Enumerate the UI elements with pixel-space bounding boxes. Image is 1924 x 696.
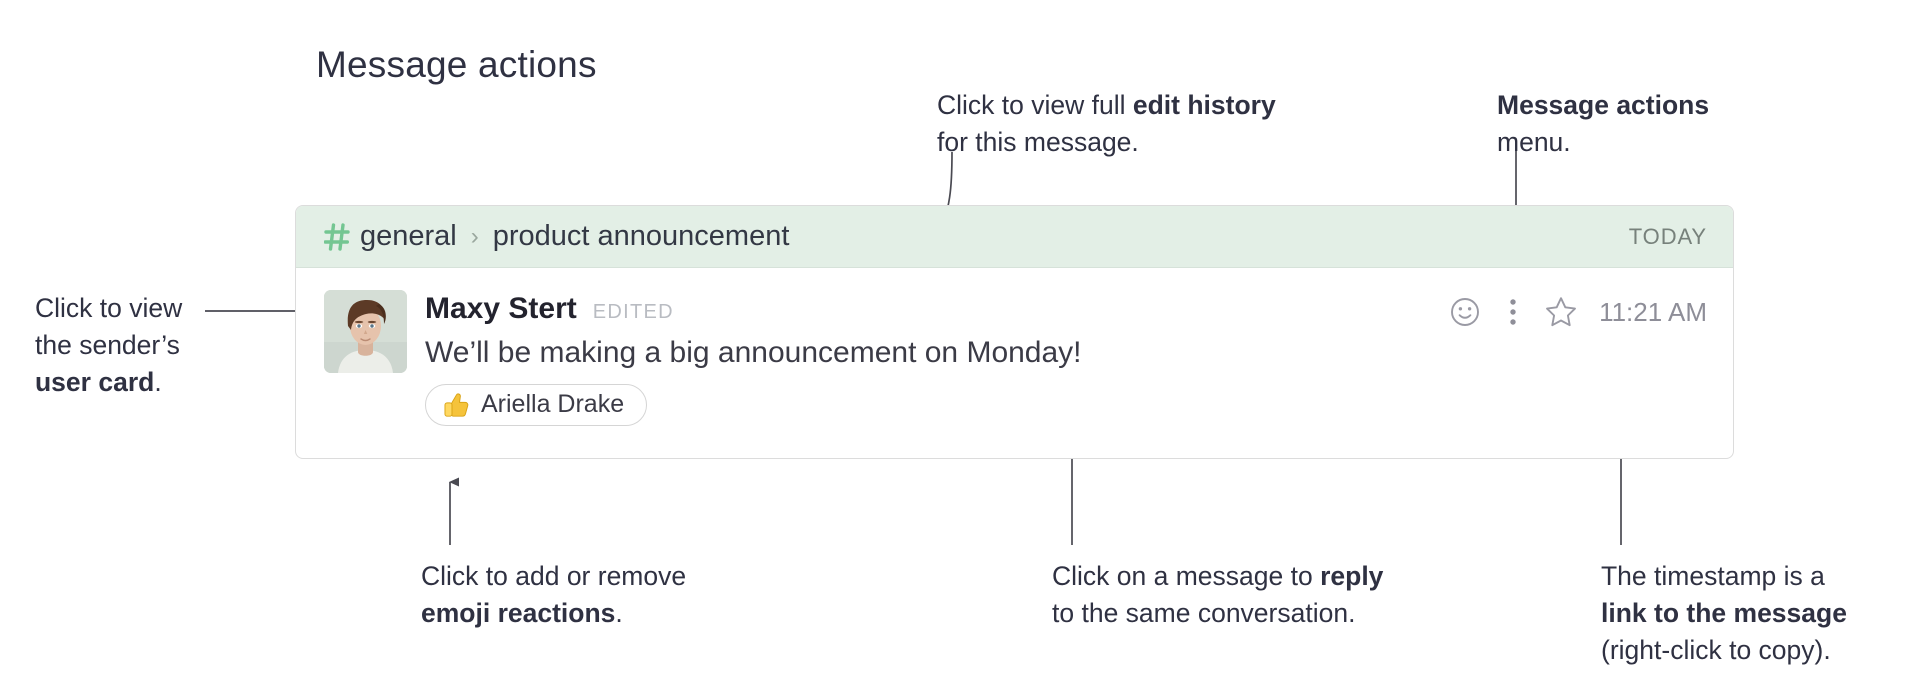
annotation-emoji-reactions: Click to add or removeemoji reactions. xyxy=(421,558,761,632)
message-actions-icon[interactable] xyxy=(1489,290,1537,334)
message-text[interactable]: We’ll be making a big announcement on Mo… xyxy=(425,336,1707,370)
date-label: TODAY xyxy=(1629,224,1707,250)
chevron-right-icon: › xyxy=(471,225,479,249)
avatar-photo xyxy=(324,290,407,373)
page-title: Message actions xyxy=(316,44,597,86)
thumbs-up-emoji xyxy=(442,391,470,419)
avatar[interactable] xyxy=(324,290,407,373)
edited-label[interactable]: EDITED xyxy=(593,301,674,324)
hash-icon xyxy=(324,223,350,251)
reaction-label: Ariella Drake xyxy=(481,390,624,419)
reaction-list: Ariella Drake xyxy=(425,384,1707,426)
star-icon[interactable] xyxy=(1537,290,1585,334)
breadcrumb-channel[interactable]: general xyxy=(360,220,457,253)
annotation-reply: Click on a message to replyto the same c… xyxy=(1052,558,1452,632)
reaction-pill[interactable]: Ariella Drake xyxy=(425,384,647,426)
annotation-user-card: Click to viewthe sender’suser card. xyxy=(35,290,265,401)
message-timestamp[interactable]: 11:21 AM xyxy=(1599,297,1707,328)
sender-name[interactable]: Maxy Stert xyxy=(425,292,577,326)
annotation-timestamp-link: The timestamp is alink to the message(ri… xyxy=(1601,558,1911,669)
message-row[interactable]: Maxy Stert EDITED We’ll be making a big … xyxy=(296,268,1733,426)
message-card: general › product announcement TODAY xyxy=(295,205,1734,459)
emoji-reaction-icon[interactable] xyxy=(1441,290,1489,334)
breadcrumb: general › product announcement TODAY xyxy=(296,206,1733,268)
message-actions-toolbar: 11:21 AM xyxy=(1441,290,1707,334)
annotation-message-actions-menu: Message actionsmenu. xyxy=(1497,87,1797,161)
annotation-edit-history: Click to view full edit historyfor this … xyxy=(937,87,1357,161)
breadcrumb-topic[interactable]: product announcement xyxy=(493,220,790,253)
